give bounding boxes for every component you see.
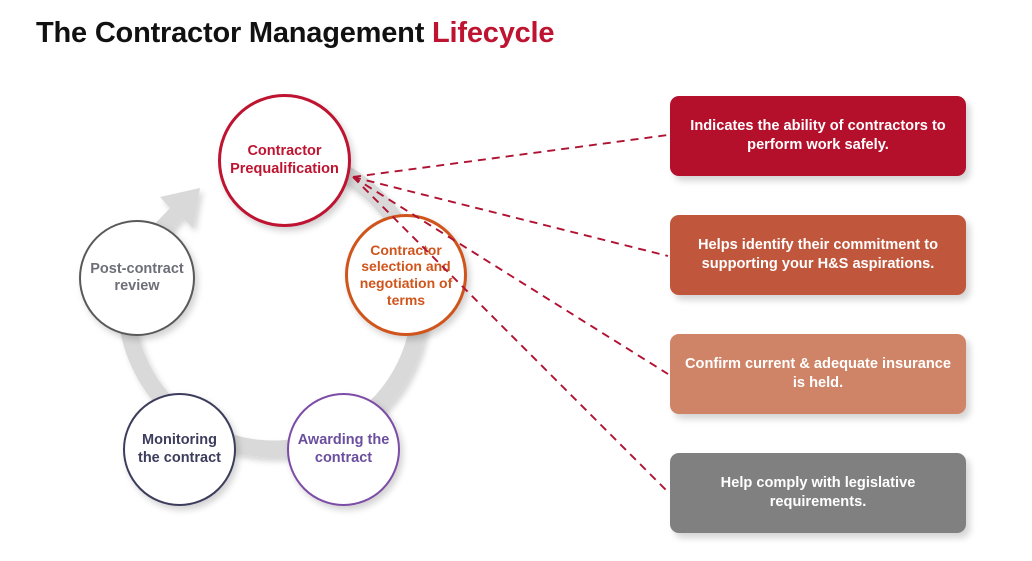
diagram-canvas: The Contractor Management Lifecycle Cont… xyxy=(0,0,1032,561)
benefit-card-text: Confirm current & adequate insurance is … xyxy=(684,355,952,394)
benefit-card-text: Help comply with legislative requirement… xyxy=(684,474,952,513)
cycle-node-label: Monitoring the contract xyxy=(125,432,234,466)
cycle-node-contractor-prequalification[interactable]: Contractor Prequalification xyxy=(218,94,351,227)
cycle-node-label: Post-contract review xyxy=(81,261,193,295)
benefit-card-text: Indicates the ability of contractors to … xyxy=(684,117,952,156)
benefit-card-text: Helps identify their commitment to suppo… xyxy=(684,236,952,275)
cycle-node-post-contract-review[interactable]: Post-contract review xyxy=(79,220,195,336)
lifecycle-cycle: Contractor Prequalification Contractor s… xyxy=(55,80,525,555)
benefit-card-ability-safely[interactable]: Indicates the ability of contractors to … xyxy=(670,96,966,176)
title-main: The Contractor Management xyxy=(36,17,432,49)
benefit-card-insurance[interactable]: Confirm current & adequate insurance is … xyxy=(670,334,966,414)
page-title: The Contractor Management Lifecycle xyxy=(36,17,554,50)
cycle-node-label: Awarding the contract xyxy=(289,432,398,466)
benefit-card-hs-aspirations[interactable]: Helps identify their commitment to suppo… xyxy=(670,215,966,295)
cycle-node-monitoring-the-contract[interactable]: Monitoring the contract xyxy=(123,393,236,506)
cycle-node-contractor-selection[interactable]: Contractor selection and negotiation of … xyxy=(345,214,467,336)
cycle-node-label: Contractor selection and negotiation of … xyxy=(348,242,464,308)
cycle-node-awarding-the-contract[interactable]: Awarding the contract xyxy=(287,393,400,506)
benefit-card-list: Indicates the ability of contractors to … xyxy=(670,96,966,552)
cycle-node-label: Contractor Prequalification xyxy=(221,143,348,177)
title-accent: Lifecycle xyxy=(432,17,554,49)
benefit-card-legislative[interactable]: Help comply with legislative requirement… xyxy=(670,453,966,533)
